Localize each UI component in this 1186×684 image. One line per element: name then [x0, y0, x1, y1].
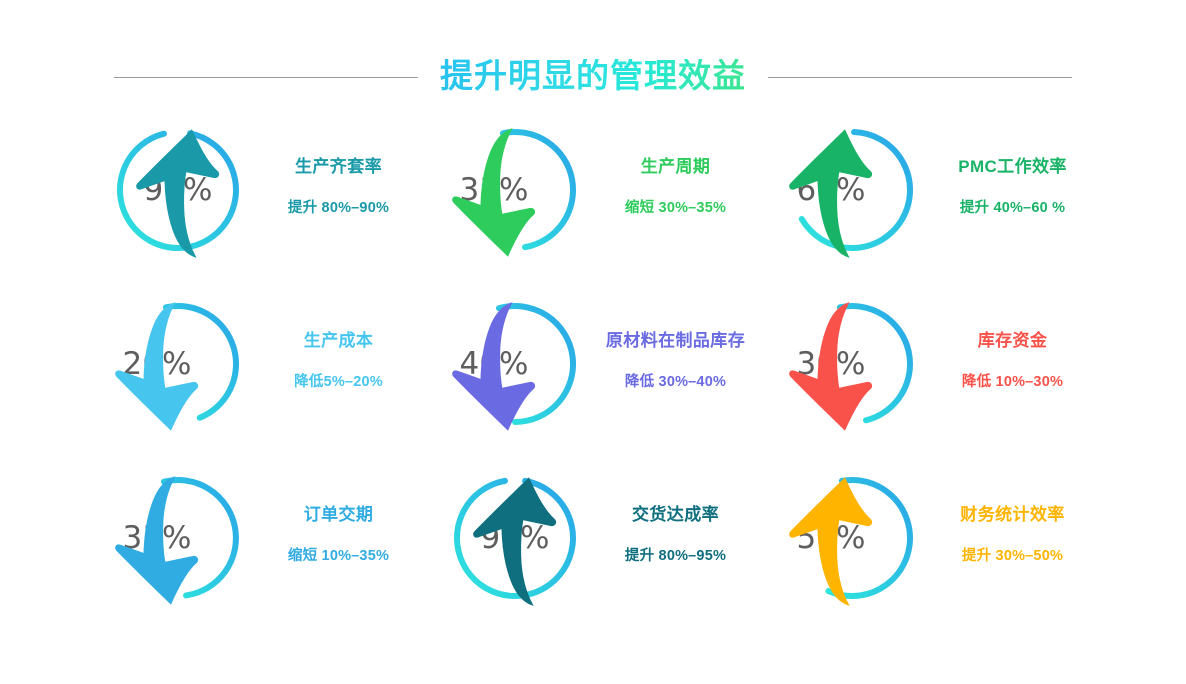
- metric-subtitle: 提升 40%–60 %: [960, 201, 1065, 217]
- metric-card: 60%PMC工作效率提升 40%–60 %: [766, 120, 1103, 294]
- metric-title: 订单交期: [304, 506, 374, 525]
- arrow-down-icon: [424, 297, 564, 437]
- dial-center: 95%: [445, 468, 585, 608]
- dial-center: 35%: [87, 468, 227, 608]
- metric-title: 生产齐套率: [295, 158, 382, 177]
- arrow-down-icon: [424, 123, 564, 263]
- metric-subtitle: 降低 30%–40%: [625, 375, 726, 391]
- arrow-up-icon: [761, 123, 901, 263]
- progress-dial: 90%: [108, 120, 248, 260]
- metric-labels: 交货达成率提升 80%–95%: [585, 468, 766, 565]
- metric-subtitle: 降低 10%–30%: [962, 375, 1063, 391]
- metric-subtitle: 提升 80%–90%: [288, 201, 389, 217]
- metric-labels: PMC工作效率提升 40%–60 %: [922, 120, 1103, 217]
- metric-labels: 生产齐套率提升 80%–90%: [248, 120, 429, 217]
- metric-labels: 原材料在制品库存降低 30%–40%: [585, 294, 766, 391]
- arrow-up-icon: [761, 471, 901, 611]
- metric-card: 95%交货达成率提升 80%–95%: [429, 468, 766, 642]
- metric-labels: 订单交期缩短 10%–35%: [248, 468, 429, 565]
- dial-center: 50%: [761, 468, 901, 608]
- page-header: 提升明显的管理效益: [0, 52, 1186, 102]
- metric-title: 交货达成率: [632, 506, 719, 525]
- metric-subtitle: 提升 80%–95%: [625, 549, 726, 565]
- dial-center: 40%: [424, 294, 564, 434]
- dial-center: 30%: [761, 294, 901, 434]
- title-rule-left: [114, 77, 418, 78]
- arrow-up-icon: [108, 123, 248, 263]
- metric-subtitle: 降低5%–20%: [294, 375, 383, 391]
- metric-subtitle: 缩短 30%–35%: [625, 201, 726, 217]
- metric-labels: 库存资金降低 10%–30%: [922, 294, 1103, 391]
- metric-labels: 财务统计效率提升 30%–50%: [922, 468, 1103, 565]
- metric-card: 40%原材料在制品库存降低 30%–40%: [429, 294, 766, 468]
- metric-card: 35%生产周期缩短 30%–35%: [429, 120, 766, 294]
- progress-dial: 20%: [108, 294, 248, 434]
- arrow-down-icon: [761, 297, 901, 437]
- progress-dial: 95%: [445, 468, 585, 608]
- arrow-down-icon: [87, 297, 227, 437]
- metric-card: 35%订单交期缩短 10%–35%: [92, 468, 429, 642]
- title-rule-right: [768, 77, 1072, 78]
- metrics-grid: 90%生产齐套率提升 80%–90%35%生产周期缩短 30%–35%60%PM…: [92, 120, 1102, 640]
- metric-title: PMC工作效率: [958, 158, 1067, 177]
- metric-labels: 生产周期缩短 30%–35%: [585, 120, 766, 217]
- metric-title: 原材料在制品库存: [606, 332, 745, 351]
- progress-dial: 40%: [445, 294, 585, 434]
- metric-title: 生产成本: [304, 332, 374, 351]
- progress-dial: 50%: [782, 468, 922, 608]
- metric-title: 财务统计效率: [960, 506, 1064, 525]
- metric-card: 30%库存资金降低 10%–30%: [766, 294, 1103, 468]
- progress-dial: 60%: [782, 120, 922, 260]
- dial-center: 20%: [87, 294, 227, 434]
- metric-title: 生产周期: [641, 158, 711, 177]
- dial-center: 90%: [108, 120, 248, 260]
- metric-labels: 生产成本降低5%–20%: [248, 294, 429, 391]
- arrow-down-icon: [87, 471, 227, 611]
- page-title: 提升明显的管理效益: [440, 59, 746, 95]
- metric-card: 90%生产齐套率提升 80%–90%: [92, 120, 429, 294]
- metric-title: 库存资金: [978, 332, 1048, 351]
- metric-card: 20%生产成本降低5%–20%: [92, 294, 429, 468]
- dial-center: 35%: [424, 120, 564, 260]
- metric-subtitle: 缩短 10%–35%: [288, 549, 389, 565]
- metric-card: 50%财务统计效率提升 30%–50%: [766, 468, 1103, 642]
- arrow-up-icon: [445, 471, 585, 611]
- metric-subtitle: 提升 30%–50%: [962, 549, 1063, 565]
- progress-dial: 35%: [108, 468, 248, 608]
- progress-dial: 30%: [782, 294, 922, 434]
- dial-center: 60%: [761, 120, 901, 260]
- progress-dial: 35%: [445, 120, 585, 260]
